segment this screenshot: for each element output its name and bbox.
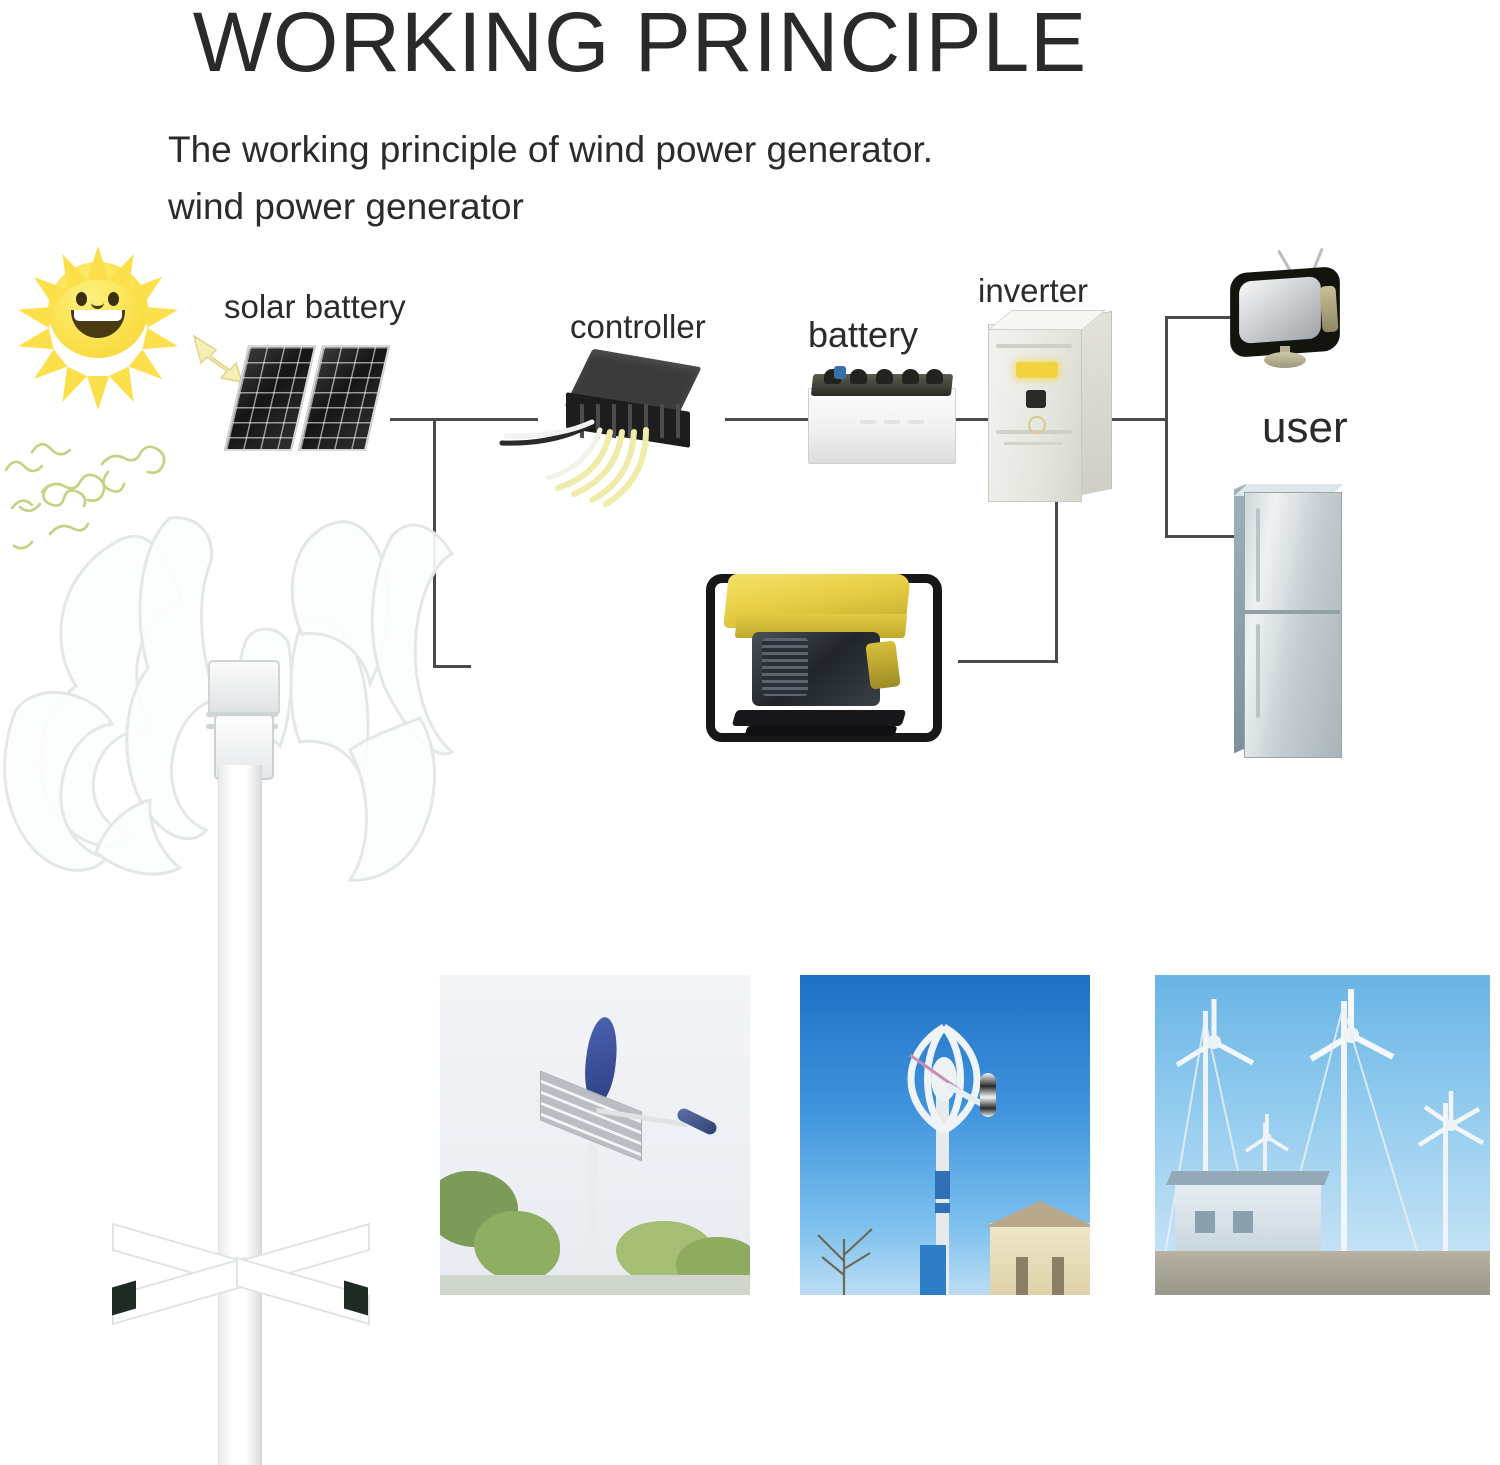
- controller-box-icon: [560, 358, 720, 478]
- line-controller-to-battery: [725, 418, 813, 421]
- label-inverter: inverter: [978, 272, 1088, 310]
- sun-ray: [142, 328, 180, 357]
- controller-wires: [500, 410, 730, 520]
- tv-screen: [1239, 276, 1321, 344]
- battery-terminal: [834, 366, 846, 379]
- inverter-switch-icon: [1028, 416, 1046, 434]
- refrigerator-icon: [1234, 484, 1342, 756]
- inverter-side: [1080, 311, 1112, 495]
- photo1-lamp-head: [675, 1106, 718, 1136]
- fridge-door-divider: [1244, 610, 1340, 614]
- photo2-anemometer: [980, 1073, 996, 1117]
- tv-knobs: [1319, 285, 1338, 332]
- vertical-axis-wind-turbine-icon: [0, 500, 460, 1337]
- generator-muffler: [865, 640, 900, 689]
- line-inverter-down: [1055, 500, 1058, 662]
- sun-ray: [142, 299, 180, 328]
- inverter-front: [988, 324, 1082, 502]
- sun-icon: [18, 236, 178, 386]
- television-icon: [1222, 258, 1354, 384]
- photo-street-light: [440, 975, 750, 1295]
- turbine-hub: [208, 660, 280, 716]
- inverter-cabinet-icon: [988, 310, 1110, 500]
- sun-ray: [87, 376, 109, 410]
- label-battery: battery: [808, 314, 918, 356]
- inverter-display: [1016, 362, 1058, 378]
- sun-eye-right: [108, 292, 119, 306]
- gasoline-generator-icon: [700, 560, 940, 750]
- sunlight-arrow-icon: [190, 330, 248, 386]
- photo2-house: [990, 1223, 1090, 1295]
- page-title: WORKING PRINCIPLE: [0, 0, 1280, 91]
- turbine-mast: [218, 765, 262, 1465]
- photo-vertical-turbine: [800, 975, 1090, 1295]
- line-user-bus-to-refrigerator: [1165, 535, 1243, 538]
- line-generator-to-inverter: [958, 660, 1058, 663]
- label-controller: controller: [570, 308, 706, 346]
- label-solar-battery: solar battery: [224, 288, 406, 326]
- battery-body: [808, 388, 956, 464]
- infographic-canvas: WORKING PRINCIPLE The working principle …: [0, 0, 1500, 1337]
- sun-ray: [87, 246, 109, 280]
- tv-stand: [1264, 352, 1306, 368]
- subtitle-line-2: wind power generator: [168, 186, 524, 228]
- photo-wind-farm: [1155, 975, 1490, 1295]
- fridge-handle-upper: [1256, 508, 1260, 602]
- subtitle-line-1: The working principle of wind power gene…: [168, 129, 933, 171]
- sun-eye-left: [76, 292, 87, 306]
- line-inverter-to-user-bus: [1106, 418, 1168, 421]
- fridge-handle-lower: [1256, 624, 1260, 718]
- lead-acid-battery-icon: [808, 366, 954, 462]
- inverter-socket: [1026, 390, 1046, 408]
- label-user: user: [1262, 403, 1348, 453]
- line-user-bus-vertical: [1165, 316, 1168, 538]
